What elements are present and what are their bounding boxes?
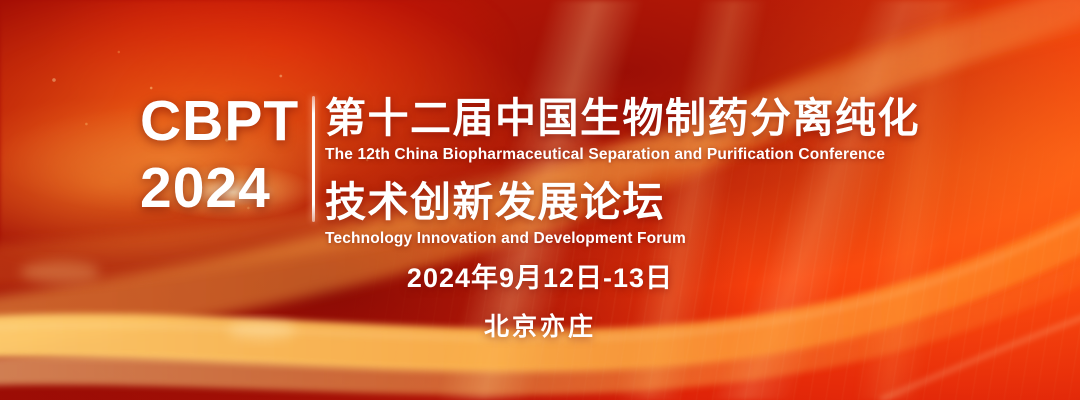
logo-acronym: CBPT (140, 93, 300, 150)
forum-subtitle-cn: 技术创新发展论坛 (325, 180, 975, 226)
conference-title-group: 第十二届中国生物制药分离纯化 The 12th China Biopharmac… (325, 96, 975, 164)
logo-year: 2024 (140, 160, 300, 217)
vertical-divider (312, 96, 315, 222)
event-venue: 北京亦庄 (325, 307, 755, 343)
conference-title-cn: 第十二届中国生物制药分离纯化 (325, 96, 975, 142)
forum-subtitle-group: 技术创新发展论坛 Technology Innovation and Devel… (325, 180, 975, 248)
event-date: 2024年9月12日-13日 (325, 256, 755, 295)
event-details: 2024年9月12日-13日 北京亦庄 (325, 256, 755, 343)
title-block: 第十二届中国生物制药分离纯化 The 12th China Biopharmac… (325, 96, 975, 249)
conference-banner: CBPT 2024 第十二届中国生物制药分离纯化 The 12th China … (0, 0, 1080, 400)
conference-title-en: The 12th China Biopharmaceutical Separat… (325, 145, 975, 164)
forum-subtitle-en: Technology Innovation and Development Fo… (325, 229, 975, 248)
banner-content: CBPT 2024 第十二届中国生物制药分离纯化 The 12th China … (0, 0, 1080, 400)
event-logo: CBPT 2024 (140, 93, 300, 217)
